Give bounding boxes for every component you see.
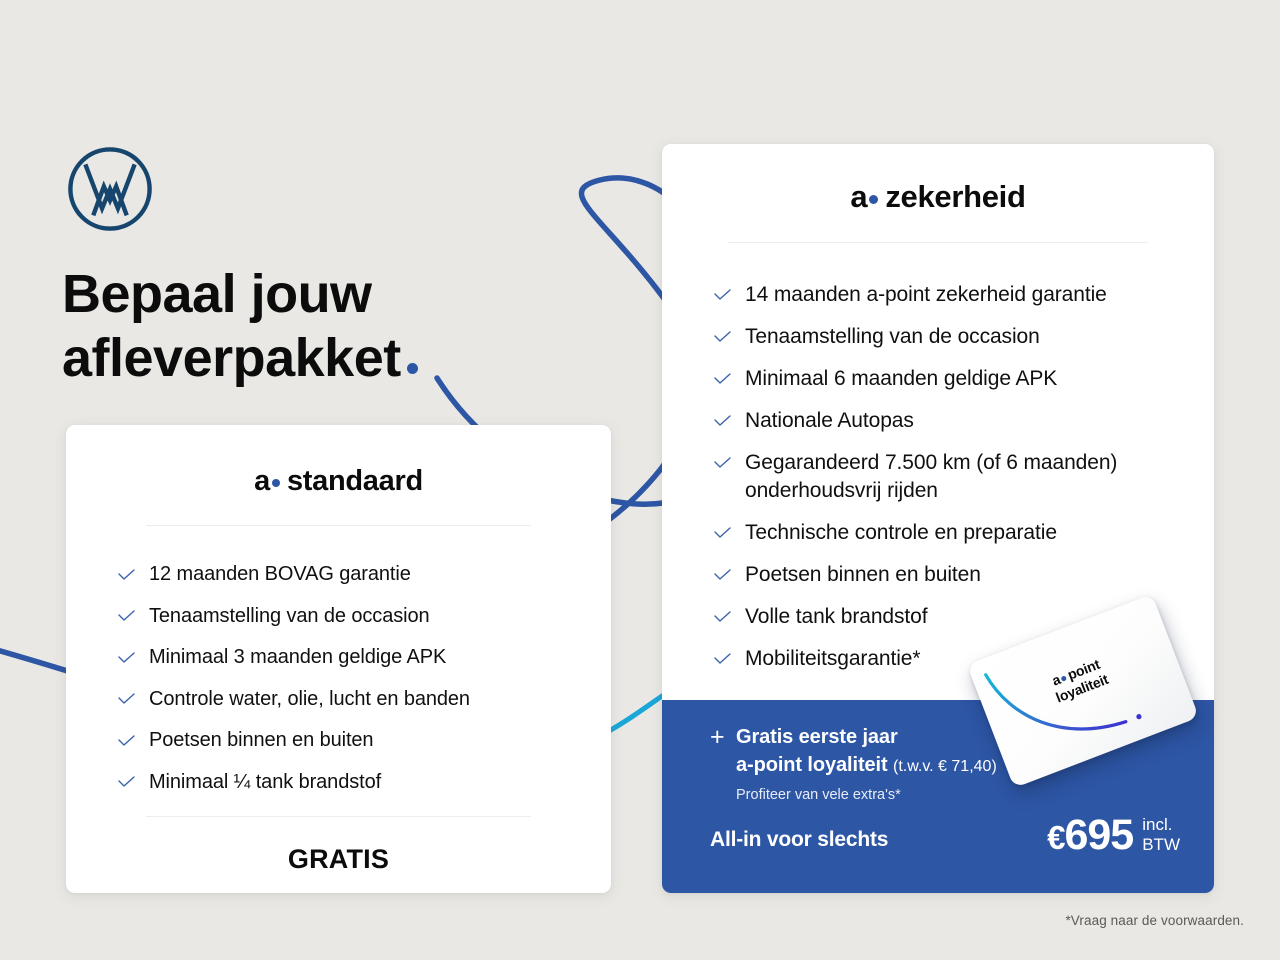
check-icon: [118, 769, 135, 796]
price-label-standaard: GRATIS: [66, 817, 611, 875]
check-icon: [714, 407, 731, 435]
list-item-label: Poetsen binnen en buiten: [149, 727, 373, 754]
list-item: Poetsen binnen en buiten: [714, 561, 1214, 589]
price-lead-label: All-in voor slechts: [710, 828, 888, 857]
check-icon: [714, 645, 731, 673]
check-icon: [714, 603, 731, 631]
brand-block: [66, 145, 154, 233]
list-item: Minimaal ¼ tank brandstof: [118, 769, 611, 796]
list-item: Poetsen binnen en buiten: [118, 727, 611, 754]
price-amount-wrap: €695 incl. BTW: [1047, 813, 1180, 857]
list-item: Minimaal 3 maanden geldige APK: [118, 644, 611, 671]
card-title-prefix: a: [850, 179, 867, 214]
price-vat-label: incl. BTW: [1133, 815, 1180, 857]
list-item-label: Tenaamstelling van de occasion: [745, 323, 1040, 351]
check-icon: [714, 449, 731, 477]
bonus-subtext: Profiteer van vele extra's*: [736, 781, 997, 807]
price-amount: 695: [1064, 813, 1133, 857]
check-icon: [118, 686, 135, 713]
feature-list-standaard: 12 maanden BOVAG garantie Tenaamstelling…: [66, 526, 611, 796]
list-item: Gegarandeerd 7.500 km (of 6 maanden) ond…: [714, 449, 1214, 505]
price-row: All-in voor slechts €695 incl. BTW: [710, 813, 1180, 857]
list-item-label: Tenaamstelling van de occasion: [149, 603, 430, 630]
footnote: *Vraag naar de voorwaarden.: [1065, 913, 1244, 928]
check-icon: [118, 603, 135, 630]
card-title-text: standaard: [287, 465, 423, 497]
list-item: Minimaal 6 maanden geldige APK: [714, 365, 1214, 393]
check-icon: [714, 365, 731, 393]
brand-dot-icon: [272, 479, 280, 487]
check-icon: [118, 561, 135, 588]
check-icon: [714, 561, 731, 589]
list-item: Tenaamstelling van de occasion: [118, 603, 611, 630]
list-item-label: Controle water, olie, lucht en banden: [149, 686, 470, 713]
bonus-value: (t.w.v. € 71,40): [893, 758, 997, 775]
check-icon: [118, 644, 135, 671]
list-item-label: Mobiliteitsgarantie*: [745, 645, 920, 673]
headline-line-2: afleverpakket: [62, 328, 401, 388]
list-item-label: Nationale Autopas: [745, 407, 914, 435]
page-root: Bepaal jouwafleverpakket astandaard 12 m…: [0, 0, 1280, 960]
list-item: Tenaamstelling van de occasion: [714, 323, 1214, 351]
list-item-label: Volle tank brandstof: [745, 603, 927, 631]
list-item-label: Technische controle en preparatie: [745, 519, 1057, 547]
page-title: Bepaal jouwafleverpakket: [62, 262, 418, 390]
plus-icon: +: [710, 723, 736, 751]
bonus-line-2: a-point loyaliteit: [736, 754, 888, 776]
card-title-standaard: astandaard: [66, 425, 611, 498]
list-item-label: Poetsen binnen en buiten: [745, 561, 981, 589]
list-item-label: Minimaal 3 maanden geldige APK: [149, 644, 446, 671]
card-title-text: zekerheid: [885, 179, 1025, 214]
list-item-label: Gegarandeerd 7.500 km (of 6 maanden) ond…: [745, 449, 1117, 505]
headline-dot-icon: [407, 363, 418, 374]
package-card-zekerheid[interactable]: azekerheid 14 maanden a-point zekerheid …: [662, 144, 1214, 893]
bonus-row: + Gratis eerste jaar a-point loyaliteit …: [710, 723, 997, 807]
headline-line-1: Bepaal jouw: [62, 264, 372, 324]
list-item-label: Minimaal 6 maanden geldige APK: [745, 365, 1057, 393]
price-currency: €: [1047, 819, 1064, 857]
check-icon: [118, 727, 135, 754]
list-item-label: 12 maanden BOVAG garantie: [149, 561, 411, 588]
brand-dot-icon: [869, 195, 878, 204]
list-item-label: 14 maanden a-point zekerheid garantie: [745, 281, 1107, 309]
list-item: Nationale Autopas: [714, 407, 1214, 435]
bonus-text: Gratis eerste jaar a-point loyaliteit (t…: [736, 723, 997, 807]
list-item: 14 maanden a-point zekerheid garantie: [714, 281, 1214, 309]
check-icon: [714, 281, 731, 309]
list-item: 12 maanden BOVAG garantie: [118, 561, 611, 588]
card-title-prefix: a: [254, 465, 270, 497]
bonus-line-1: Gratis eerste jaar: [736, 723, 997, 751]
check-icon: [714, 323, 731, 351]
list-item: Controle water, olie, lucht en banden: [118, 686, 611, 713]
list-item: Technische controle en preparatie: [714, 519, 1214, 547]
list-item-label: Minimaal ¼ tank brandstof: [149, 769, 381, 796]
check-icon: [714, 519, 731, 547]
card-title-zekerheid: azekerheid: [662, 144, 1214, 215]
package-card-standaard[interactable]: astandaard 12 maanden BOVAG garantie Ten…: [66, 425, 611, 893]
volkswagen-logo-icon: [66, 145, 154, 233]
